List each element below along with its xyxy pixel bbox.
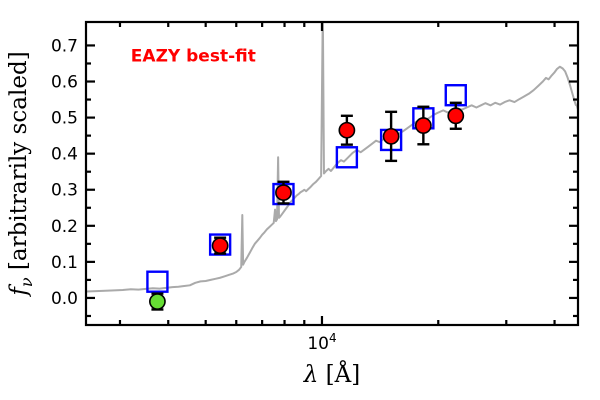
photometry-point — [384, 112, 399, 161]
axes-frame — [86, 22, 578, 325]
photometry-marker — [416, 118, 431, 133]
ytick-label: 0.6 — [51, 73, 78, 93]
y-axis-label: fν [arbitrarily scaled] — [6, 51, 36, 297]
xtick-label: 104 — [307, 331, 336, 354]
ytick-label: 0.3 — [51, 181, 78, 201]
chart-svg: 0.00.10.20.30.40.50.60.7104 EAZY best-fi… — [0, 0, 600, 400]
model-photometry-square — [337, 147, 357, 167]
photometry-point — [213, 238, 228, 254]
photometry-point — [150, 294, 165, 310]
annotation-eazy-best-fit: EAZY best-fit — [131, 47, 256, 67]
model-photometry-markers — [147, 85, 465, 291]
photometry-point — [448, 103, 463, 129]
photometry-marker — [213, 238, 228, 253]
figure-canvas: 0.00.10.20.30.40.50.60.7104 EAZY best-fi… — [0, 0, 600, 400]
photometry-marker — [276, 185, 291, 200]
ytick-label: 0.4 — [51, 145, 78, 165]
x-axis-label: λ [Å] — [303, 360, 360, 388]
axes-spines — [86, 22, 578, 325]
photometry-point — [416, 107, 431, 145]
ytick-label: 0.7 — [51, 36, 78, 56]
photometry-marker — [448, 108, 463, 123]
photometry-point — [339, 116, 354, 145]
photometry-marker — [150, 294, 165, 309]
photometry-marker — [384, 129, 399, 144]
photometry-marker — [339, 123, 354, 138]
ytick-label: 0.2 — [51, 217, 78, 237]
ytick-label: 0.0 — [51, 289, 78, 309]
observed-photometry-markers — [150, 103, 464, 310]
ytick-label: 0.1 — [51, 253, 78, 273]
ytick-label: 0.5 — [51, 109, 78, 129]
